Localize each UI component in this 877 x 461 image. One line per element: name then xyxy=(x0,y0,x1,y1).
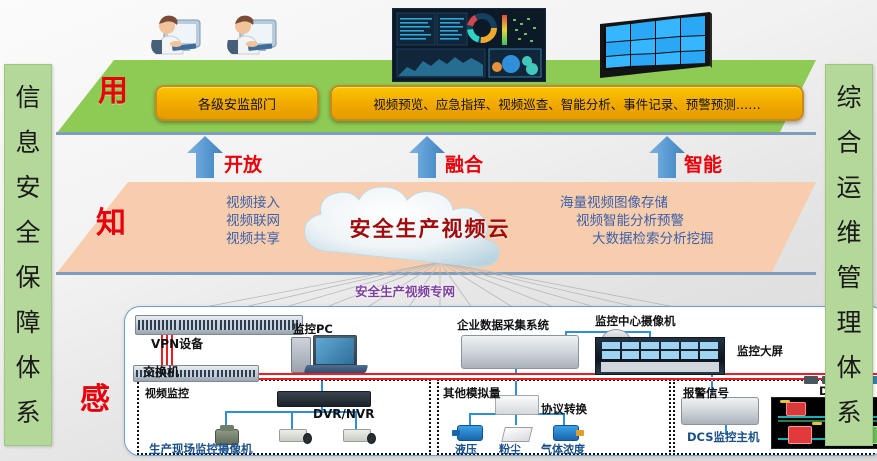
arrow-up-intelligent-icon xyxy=(648,135,686,179)
pillar-char: 息 xyxy=(15,130,40,155)
label-dcs-host: DCS监控主机 xyxy=(687,429,759,445)
box-application-functions[interactable]: 视频预览、应急指挥、视频巡查、智能分析、事件记录、预警预测…… xyxy=(330,85,804,121)
capability-item: 海量视频图像存储 xyxy=(560,195,770,213)
keyboard-icon xyxy=(304,365,369,373)
label-vpn-device: VPN设备 xyxy=(151,335,203,352)
label-sensor-dust: 粉尘 xyxy=(499,441,521,456)
label-dvr-nvr: DVR/NVR xyxy=(313,407,374,421)
label-sensor-hydraulic: 液压 xyxy=(455,441,477,456)
diagram-canvas: 信 息 安 全 保 障 体 系 综 合 运 维 管 理 体 系 xyxy=(0,0,877,461)
trunk-line-red xyxy=(161,378,877,380)
cloud-label-video-cloud: 安全生产视频云 xyxy=(280,186,580,270)
trunk-line-red xyxy=(161,373,877,375)
pillar-char: 维 xyxy=(836,220,861,245)
pillar-char: 理 xyxy=(836,310,861,335)
pillar-char: 保 xyxy=(15,265,40,290)
pillar-char: 综 xyxy=(836,85,861,110)
capability-item: 视频共享 xyxy=(130,231,280,249)
link-line xyxy=(291,411,293,429)
layer-glyph-use: 用 xyxy=(98,66,128,110)
pillar-char: 安 xyxy=(15,175,40,200)
pillar-char: 体 xyxy=(836,355,861,380)
label-analog-group: 其他模拟量 xyxy=(443,385,501,401)
pillar-char: 全 xyxy=(15,220,40,245)
layer-glyph-sense: 感 xyxy=(80,374,110,418)
label-video-surveillance-group: 视频监控 xyxy=(145,385,189,401)
capability-item: 视频接入 xyxy=(130,195,280,213)
pc-monitor-icon xyxy=(313,335,357,367)
dust-sensor-icon xyxy=(501,427,533,442)
label-alarm-signal: 报警信号 xyxy=(683,385,729,401)
pillar-char: 系 xyxy=(836,400,861,425)
label-data-collection-system: 企业数据采集系统 xyxy=(457,317,549,333)
capability-item: 视频智能分析预警 xyxy=(560,213,770,231)
arrow-label-fusion: 融合 xyxy=(445,150,483,177)
label-site-cameras: 生产现场监控摄像机 xyxy=(149,441,253,456)
pillar-char: 信 xyxy=(15,85,40,110)
video-wall-illustration xyxy=(592,10,716,78)
label-monitor-pc: 监控PC xyxy=(293,321,333,337)
pillar-char: 管 xyxy=(836,265,861,290)
label-center-camera: 监控中心摄像机 xyxy=(595,313,676,329)
arrow-up-open-icon xyxy=(186,135,224,179)
layer-glyph-know: 知 xyxy=(96,198,126,242)
label-sensor-gas: 气体浓度 xyxy=(541,441,585,456)
data-collection-server-icon xyxy=(461,335,579,369)
pillar-char: 障 xyxy=(15,310,40,335)
private-network-label: 安全生产视频专网 xyxy=(355,281,455,300)
bullet-camera-icon xyxy=(279,429,307,442)
right-pillar-operations-management: 综 合 运 维 管 理 体 系 xyxy=(825,64,873,446)
device-topology-panel: VPN设备 交换机 监控PC 企业数据采集系统 xyxy=(124,306,877,456)
pillar-char: 合 xyxy=(836,130,861,155)
cloud-left-capabilities: 视频接入 视频联网 视频共享 xyxy=(130,195,280,248)
label-protocol-conversion: 协议转换 xyxy=(541,401,587,417)
arrow-label-intelligent: 智能 xyxy=(684,150,722,177)
arrow-up-fusion-icon xyxy=(408,135,446,179)
dvr-nvr-icon xyxy=(277,391,371,407)
gas-sensor-icon xyxy=(553,425,579,441)
cloud-right-capabilities: 海量视频图像存储 视频智能分析预警 大数据检索分析挖掘 xyxy=(560,195,770,248)
dcs-host-server-icon xyxy=(681,397,759,425)
arrow-label-open: 开放 xyxy=(224,150,262,177)
protocol-converter-icon xyxy=(495,395,539,415)
pillar-char: 体 xyxy=(15,355,40,380)
capability-item: 大数据检索分析挖掘 xyxy=(560,231,770,249)
link-line xyxy=(469,413,471,425)
pillar-char: 系 xyxy=(15,400,40,425)
control-room-video-wall-icon xyxy=(595,337,725,375)
label-video-wall: 监控大屏 xyxy=(737,343,783,359)
box-safety-supervision-departments[interactable]: 各级安监部门 xyxy=(155,85,319,121)
vpn-device-icon xyxy=(135,315,303,335)
analytics-dashboard-screen xyxy=(392,8,546,82)
pillar-char: 运 xyxy=(836,175,861,200)
left-pillar-information-security: 信 息 安 全 保 障 体 系 xyxy=(4,64,52,446)
label-switch: 交换机 xyxy=(143,363,179,380)
bullet-camera-icon xyxy=(343,429,371,442)
operators-illustration xyxy=(150,6,310,64)
hydraulic-sensor-icon xyxy=(457,425,483,441)
capability-item: 视频联网 xyxy=(130,213,280,231)
video-cloud-shape: 安全生产视频云 xyxy=(280,186,580,270)
